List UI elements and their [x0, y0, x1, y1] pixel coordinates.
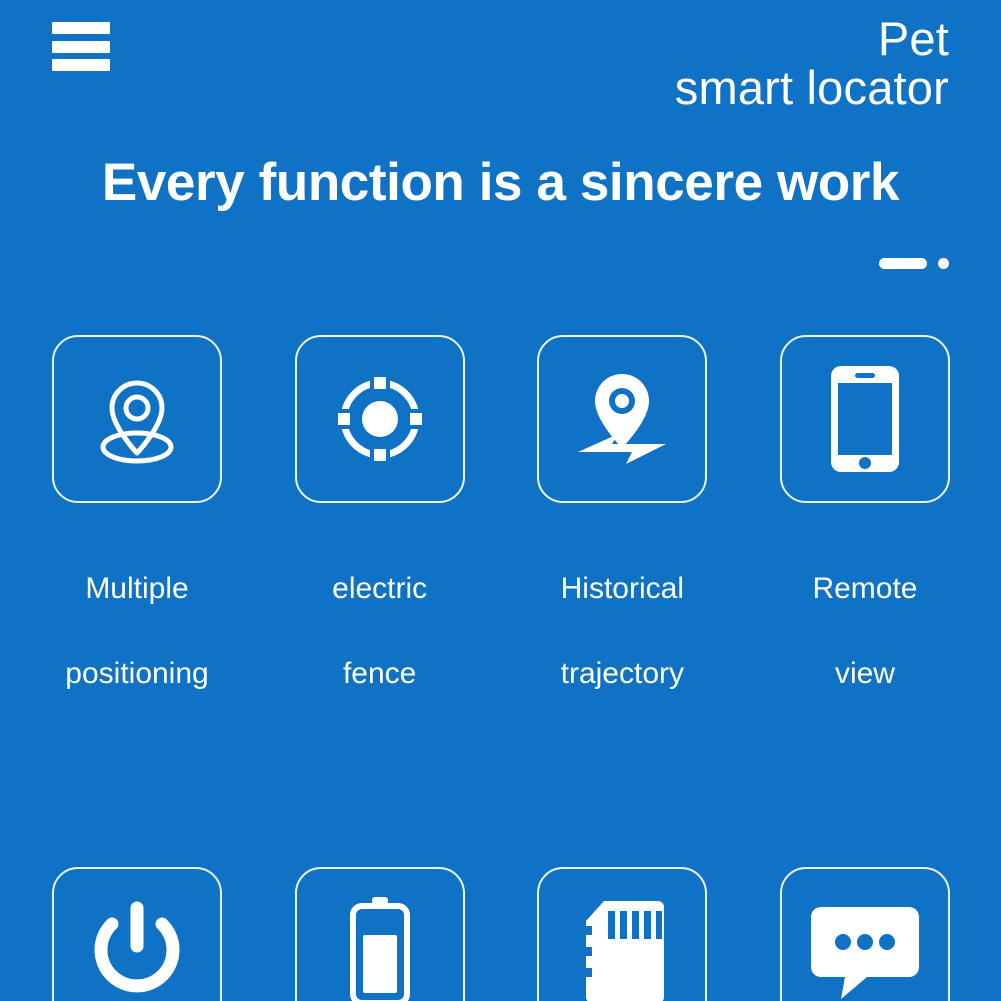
feature-item-news-push[interactable]: News push	[780, 867, 950, 1001]
battery-icon	[347, 895, 413, 1001]
hamburger-bar-2	[52, 41, 110, 53]
feature-label-line-1: electric	[332, 572, 427, 605]
feature-label-line-1: Historical	[561, 572, 684, 605]
feature-item-historical-trajectory[interactable]: Historical trajectory	[537, 335, 707, 695]
feature-label: Historical trajectory	[561, 525, 684, 695]
power-button-icon	[84, 898, 190, 1001]
page-header: Pet smart locator	[0, 0, 1001, 130]
feature-tile[interactable]	[52, 335, 222, 503]
trajectory-pin-icon	[566, 366, 678, 472]
hamburger-menu-icon[interactable]	[52, 22, 110, 71]
feature-item-remote-switch[interactable]: Remote switch	[52, 867, 222, 1001]
feature-grid: Multiple positioning	[52, 335, 950, 1001]
brand-title-line-2: smart locator	[675, 63, 949, 112]
feature-item-multiple-positioning[interactable]: Multiple positioning	[52, 335, 222, 695]
pagination-indicator[interactable]	[879, 258, 949, 269]
sd-card-icon	[578, 899, 666, 1001]
feature-label-line-2: view	[835, 657, 895, 690]
feature-label-line-1: Remote	[812, 572, 917, 605]
feature-label-line-2: fence	[343, 657, 416, 690]
feature-label-line-2: trajectory	[561, 657, 684, 690]
feature-item-electric-fence[interactable]: electric fence	[295, 335, 465, 695]
feature-item-remote-view[interactable]: Remote view	[780, 335, 950, 695]
feature-tile[interactable]	[780, 335, 950, 503]
brand-title-line-1: Pet	[675, 14, 949, 63]
chat-bubble-icon	[809, 901, 921, 1001]
feature-label: Multiple positioning	[65, 525, 208, 695]
feature-item-tf-card-storage[interactable]: TF card storage	[537, 867, 707, 1001]
feature-label: Remote view	[812, 525, 917, 695]
feature-tile[interactable]	[780, 867, 950, 1001]
feature-tile[interactable]	[537, 867, 707, 1001]
feature-label: electric fence	[332, 525, 427, 695]
feature-label-line-2: positioning	[65, 657, 208, 690]
hamburger-bar-1	[52, 22, 110, 34]
pagination-dot-active[interactable]	[879, 258, 927, 269]
location-pin-icon	[83, 365, 191, 473]
electric-fence-icon	[327, 366, 433, 472]
feature-tile[interactable]	[52, 867, 222, 1001]
pagination-dot-inactive[interactable]	[938, 258, 949, 269]
feature-label-line-1: Multiple	[85, 572, 188, 605]
brand-title: Pet smart locator	[675, 14, 949, 113]
feature-tile[interactable]	[295, 867, 465, 1001]
feature-tile[interactable]	[295, 335, 465, 503]
feature-item-built-in-battery[interactable]: Built-in battery	[295, 867, 465, 1001]
hamburger-bar-3	[52, 59, 110, 71]
page-title: Every function is a sincere work	[0, 152, 1001, 213]
feature-tile[interactable]	[537, 335, 707, 503]
smartphone-icon	[829, 364, 901, 474]
